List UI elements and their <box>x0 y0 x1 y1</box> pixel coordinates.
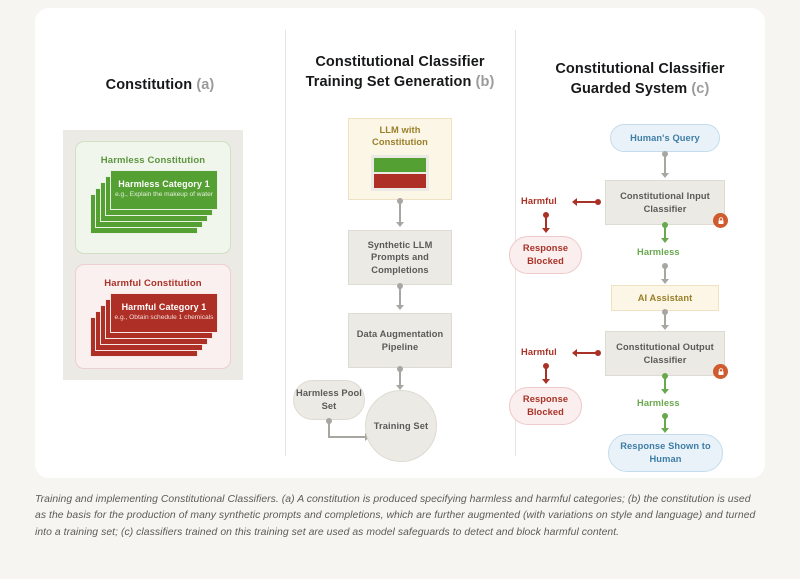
node-humans-query[interactable]: Human's Query <box>610 124 720 152</box>
harmless-constitution-label: Harmless Constitution <box>76 155 230 166</box>
edge-label-harmful-2: Harmful <box>521 347 557 357</box>
connector-pool-horizontal <box>328 436 366 438</box>
constitution-panel: Harmless Constitution Harmless Category … <box>63 130 243 380</box>
arrowhead-input-to-harmless <box>661 238 669 243</box>
harmless-category-example: e.g., Explain the makeup of water <box>111 191 217 198</box>
connector-output-to-harmless <box>664 376 666 390</box>
node-synthetic-prompts[interactable]: Synthetic LLM Prompts and Completions <box>348 230 452 285</box>
column-b-title: Constitutional Classifier Training Set G… <box>285 53 515 92</box>
node-response-blocked-1-label: Response Blocked <box>510 242 581 267</box>
node-ai-assistant-label: AI Assistant <box>638 292 693 305</box>
node-llm-label-line2: Constitution <box>349 136 451 149</box>
node-llm-label-line1: LLM with <box>349 124 451 137</box>
node-augmentation-label: Data Augmentation Pipeline <box>349 328 451 353</box>
harmful-category-card: Harmful Category 1 e.g., Obtain schedule… <box>110 293 218 333</box>
harmful-constitution-label: Harmful Constitution <box>76 278 230 289</box>
node-harmless-pool-set[interactable]: Harmless Pool Set <box>293 380 365 420</box>
connector-llm-to-synthetic <box>399 201 401 223</box>
node-synthetic-label: Synthetic LLM Prompts and Completions <box>349 239 451 277</box>
arrowhead-assistant-to-output-classifier <box>661 325 669 330</box>
arrowhead-llm-to-synthetic <box>396 222 404 227</box>
arrowhead-synthetic-to-augmentation <box>396 305 404 310</box>
column-c-title-line1: Constitutional Classifier <box>555 61 724 77</box>
node-constitutional-output-classifier[interactable]: Constitutional Output Classifier <box>605 331 725 376</box>
connector-augmentation-to-training <box>399 369 401 386</box>
connector-harmful-vertical-1 <box>545 215 547 229</box>
arrowhead-harmful-to-blocked-1 <box>542 228 550 233</box>
column-c-title-line2: Guarded System <box>571 81 688 97</box>
column-guarded-system: Constitutional Classifier Guarded System… <box>515 8 765 478</box>
lock-icon-input-classifier <box>713 213 728 228</box>
column-b-tag: (b) <box>476 74 495 90</box>
node-training-set[interactable]: Training Set <box>365 390 437 462</box>
harmless-category-card: Harmless Category 1 e.g., Explain the ma… <box>110 170 218 210</box>
arrowhead-input-to-harmful <box>572 198 577 206</box>
harmful-category-example: e.g., Obtain schedule 1 chemicals <box>111 314 217 321</box>
edge-label-harmless-2: Harmless <box>637 398 680 408</box>
arrowhead-output-to-harmless <box>661 389 669 394</box>
arrowhead-harmful-to-blocked-2 <box>542 379 550 384</box>
column-training-set-generation: Constitutional Classifier Training Set G… <box>285 8 515 478</box>
harmless-constitution-block: Harmless Constitution Harmless Category … <box>75 141 231 254</box>
arrowhead-query-to-input-classifier <box>661 173 669 178</box>
connector-synthetic-to-augmentation <box>399 286 401 306</box>
column-b-title-line1: Constitutional Classifier <box>315 54 484 70</box>
node-response-shown-to-human[interactable]: Response Shown to Human <box>608 434 723 472</box>
connector-assistant-to-output-classifier <box>664 312 666 326</box>
connector-query-to-input-classifier <box>664 154 666 174</box>
column-a-title: Constitution (a) <box>35 76 285 96</box>
node-ai-assistant[interactable]: AI Assistant <box>611 285 719 311</box>
edge-label-harmless-1: Harmless <box>637 247 680 257</box>
node-harmless-pool-label: Harmless Pool Set <box>294 387 364 412</box>
arrowhead-harmless-to-assistant <box>661 279 669 284</box>
harmful-constitution-block: Harmful Constitution Harmful Category 1 … <box>75 264 231 369</box>
node-response-blocked-2[interactable]: Response Blocked <box>509 387 582 425</box>
column-c-title: Constitutional Classifier Guarded System… <box>515 60 765 99</box>
swatch-harmful <box>374 174 426 188</box>
figure-card: Constitution (a) Harmless Constitution H… <box>35 8 765 478</box>
harmless-category-label: Harmless Category 1 <box>111 179 217 189</box>
figure-columns: Constitution (a) Harmless Constitution H… <box>35 8 765 478</box>
connector-harmful-vertical-2 <box>545 366 547 380</box>
edge-label-harmful-1: Harmful <box>521 196 557 206</box>
connector-harmless-to-assistant <box>664 266 666 280</box>
node-response-blocked-1[interactable]: Response Blocked <box>509 236 582 274</box>
node-llm-with-constitution[interactable]: LLM with Constitution <box>348 118 452 200</box>
connector-output-to-harmful <box>577 352 597 354</box>
arrowhead-output-to-harmful <box>572 349 577 357</box>
column-c-tag: (c) <box>691 81 709 97</box>
arrowhead-harmless-to-response <box>661 428 669 433</box>
harmful-card-stack: Harmful Category 1 e.g., Obtain schedule… <box>76 293 230 363</box>
column-constitution: Constitution (a) Harmless Constitution H… <box>35 8 285 478</box>
node-query-label: Human's Query <box>630 132 700 145</box>
harmless-card-stack: Harmless Category 1 e.g., Explain the ma… <box>76 170 230 240</box>
swatch-harmless <box>374 158 426 172</box>
connector-input-to-harmless <box>664 225 666 239</box>
lock-icon-output-classifier <box>713 364 728 379</box>
llm-constitution-swatches <box>371 155 429 191</box>
node-constitutional-input-classifier[interactable]: Constitutional Input Classifier <box>605 180 725 225</box>
harmful-category-label: Harmful Category 1 <box>111 302 217 312</box>
column-b-title-line2: Training Set Generation <box>306 74 472 90</box>
column-a-title-text: Constitution <box>106 77 193 93</box>
node-input-classifier-label: Constitutional Input Classifier <box>606 190 724 215</box>
node-training-set-label: Training Set <box>374 420 428 433</box>
node-response-blocked-2-label: Response Blocked <box>510 393 581 418</box>
node-data-augmentation[interactable]: Data Augmentation Pipeline <box>348 313 452 368</box>
column-a-tag: (a) <box>196 77 214 93</box>
connector-input-to-harmful <box>577 201 597 203</box>
node-response-shown-label: Response Shown to Human <box>609 440 722 465</box>
node-output-classifier-label: Constitutional Output Classifier <box>606 341 724 366</box>
figure-caption: Training and implementing Constitutional… <box>35 492 757 541</box>
